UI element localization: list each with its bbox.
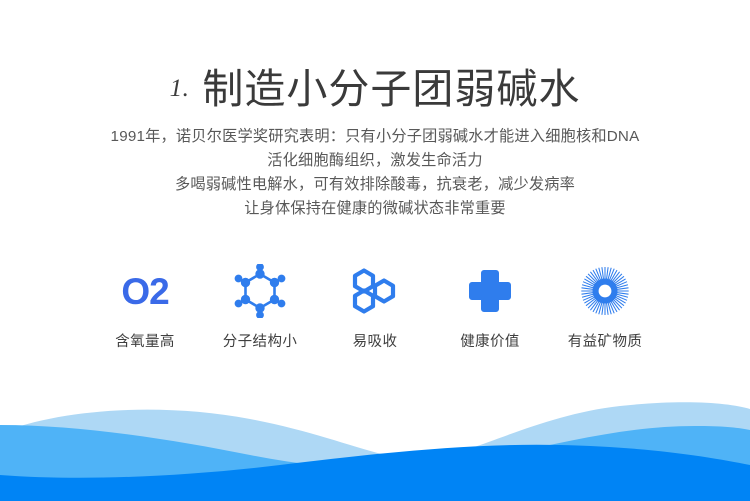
description-block: 1991年，诺贝尔医学奖研究表明：只有小分子团弱碱水才能进入细胞核和DNA 活化… (0, 125, 750, 221)
feature-item-minerals: 有益矿物质 (555, 262, 655, 351)
feature-item-molecule: 分子结构小 (210, 262, 310, 351)
promo-banner: 1.制造小分子团弱碱水 1991年，诺贝尔医学奖研究表明：只有小分子团弱碱水才能… (0, 0, 750, 501)
feature-item-oxygen: O2 含氧量高 (95, 262, 195, 351)
o2-icon-label: O2 (121, 273, 168, 310)
feature-label-minerals: 有益矿物质 (555, 330, 655, 351)
page-title: 1.制造小分子团弱碱水 (0, 55, 750, 115)
medical-cross-icon (440, 262, 540, 320)
feature-label-molecule: 分子结构小 (210, 330, 310, 351)
sunburst-mineral-icon (555, 262, 655, 320)
hexagon-cluster-icon (325, 262, 425, 320)
feature-list: O2 含氧量高 (95, 262, 655, 351)
description-line-2: 活化细胞酶组织，激发生命活力 (0, 149, 750, 173)
section-title: 制造小分子团弱碱水 (202, 66, 580, 112)
feature-label-oxygen: 含氧量高 (95, 330, 195, 351)
description-line-3: 多喝弱碱性电解水，可有效排除酸毒，抗衰老，减少发病率 (0, 173, 750, 197)
feature-label-absorption: 易吸收 (325, 330, 425, 351)
feature-item-health: 健康价值 (440, 262, 540, 351)
molecule-ring-icon (210, 262, 310, 320)
wave-decoration (0, 381, 750, 501)
description-line-1: 1991年，诺贝尔医学奖研究表明：只有小分子团弱碱水才能进入细胞核和DNA (0, 125, 750, 149)
o2-icon: O2 (95, 262, 195, 320)
feature-label-health: 健康价值 (440, 330, 540, 351)
description-line-4: 让身体保持在健康的微碱状态非常重要 (0, 197, 750, 221)
section-number: 1. (170, 75, 190, 102)
feature-item-absorption: 易吸收 (325, 262, 425, 351)
